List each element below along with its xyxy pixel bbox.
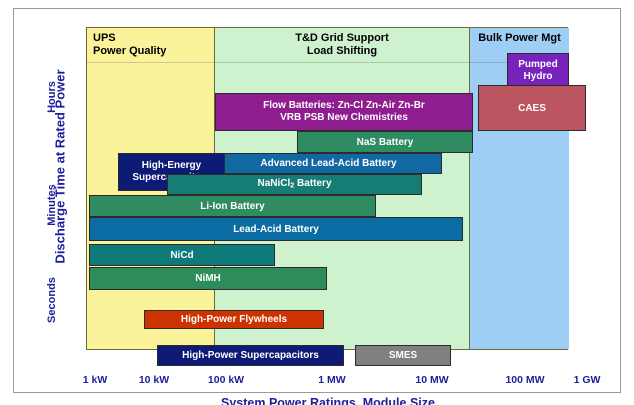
bar-smes[interactable]: SMES: [355, 345, 451, 366]
bar-label-nas-battery: NaS Battery: [298, 137, 472, 148]
bar-lead-acid-battery[interactable]: Lead-Acid Battery: [89, 217, 463, 241]
x-tick-1kw: 1 kW: [83, 374, 108, 386]
zone-label-bulk: Bulk Power Mgt: [470, 32, 569, 45]
chart-page: Discharge Time at Rated Power Hours Minu…: [0, 0, 634, 405]
bar-label-nanicl2-battery: NaNiCl2 Battery: [168, 178, 421, 191]
bar-label-nicd: NiCd: [90, 250, 274, 261]
bar-nanicl2-battery[interactable]: NaNiCl2 Battery: [167, 174, 422, 195]
bar-label-high-power-flywheels: High-Power Flywheels: [145, 314, 323, 325]
header-divider: [87, 62, 567, 63]
bar-label-lead-acid-battery: Lead-Acid Battery: [90, 224, 462, 235]
zone-td-line2: Load Shifting: [215, 45, 469, 58]
bar-label-high-power-supercapacitors: High-Power Supercapacitors: [158, 350, 343, 361]
bar-nicd[interactable]: NiCd: [89, 244, 275, 266]
x-tick-1mw: 1 MW: [318, 374, 345, 386]
x-tick-100mw: 100 MW: [505, 374, 544, 386]
zone-ups-line1: UPS: [93, 32, 214, 45]
x-axis-title: System Power Ratings, Module Size: [87, 396, 569, 405]
bar-label-pumped-hydro: Pumped Hydro: [508, 59, 568, 83]
bar-nimh[interactable]: NiMH: [89, 267, 327, 290]
plot-area: UPS Power Quality T&D Grid Support Load …: [86, 27, 568, 350]
bar-caes[interactable]: CAES: [478, 85, 586, 131]
bar-label-smes: SMES: [356, 350, 450, 361]
bar-high-power-flywheels[interactable]: High-Power Flywheels: [144, 310, 324, 329]
bar-label-advanced-lead-acid: Advanced Lead-Acid Battery: [216, 158, 441, 169]
bar-li-ion-battery[interactable]: Li-Ion Battery: [89, 195, 376, 217]
y-tick-hours: Hours: [46, 57, 58, 137]
figure-frame: Discharge Time at Rated Power Hours Minu…: [13, 8, 621, 393]
bar-nas-battery[interactable]: NaS Battery: [297, 131, 473, 153]
bar-pumped-hydro[interactable]: Pumped Hydro: [507, 53, 569, 89]
bar-label-flow-batteries-line1: Flow Batteries: Zn-Cl Zn-Air Zn-Br: [216, 100, 472, 112]
bar-advanced-lead-acid[interactable]: Advanced Lead-Acid Battery: [215, 153, 442, 174]
bar-label-nanicl2-main: NaNiCl: [257, 178, 290, 189]
bar-label-caes: CAES: [479, 103, 585, 114]
bar-label-nanicl2-tail: Battery: [294, 178, 331, 189]
zone-label-ups: UPS Power Quality: [87, 32, 214, 58]
x-tick-1gw: 1 GW: [574, 374, 601, 386]
zone-ups-line2: Power Quality: [93, 45, 214, 58]
x-tick-10kw: 10 kW: [139, 374, 169, 386]
x-tick-100kw: 100 kW: [208, 374, 244, 386]
x-tick-10mw: 10 MW: [415, 374, 448, 386]
zone-td-line1: T&D Grid Support: [215, 32, 469, 45]
y-tick-minutes: Minutes: [46, 165, 58, 245]
bar-high-power-supercapacitors[interactable]: High-Power Supercapacitors: [157, 345, 344, 366]
bar-label-li-ion-battery: Li-Ion Battery: [90, 201, 375, 212]
bar-flow-batteries[interactable]: Flow Batteries: Zn-Cl Zn-Air Zn-Br VRB P…: [215, 93, 473, 131]
zone-label-td: T&D Grid Support Load Shifting: [215, 32, 469, 58]
zone-bulk-line1: Bulk Power Mgt: [470, 32, 569, 45]
bar-label-flow-batteries-line2: VRB PSB New Chemistries: [216, 112, 472, 124]
bar-label-nimh: NiMH: [90, 273, 326, 284]
y-tick-seconds: Seconds: [46, 260, 58, 340]
